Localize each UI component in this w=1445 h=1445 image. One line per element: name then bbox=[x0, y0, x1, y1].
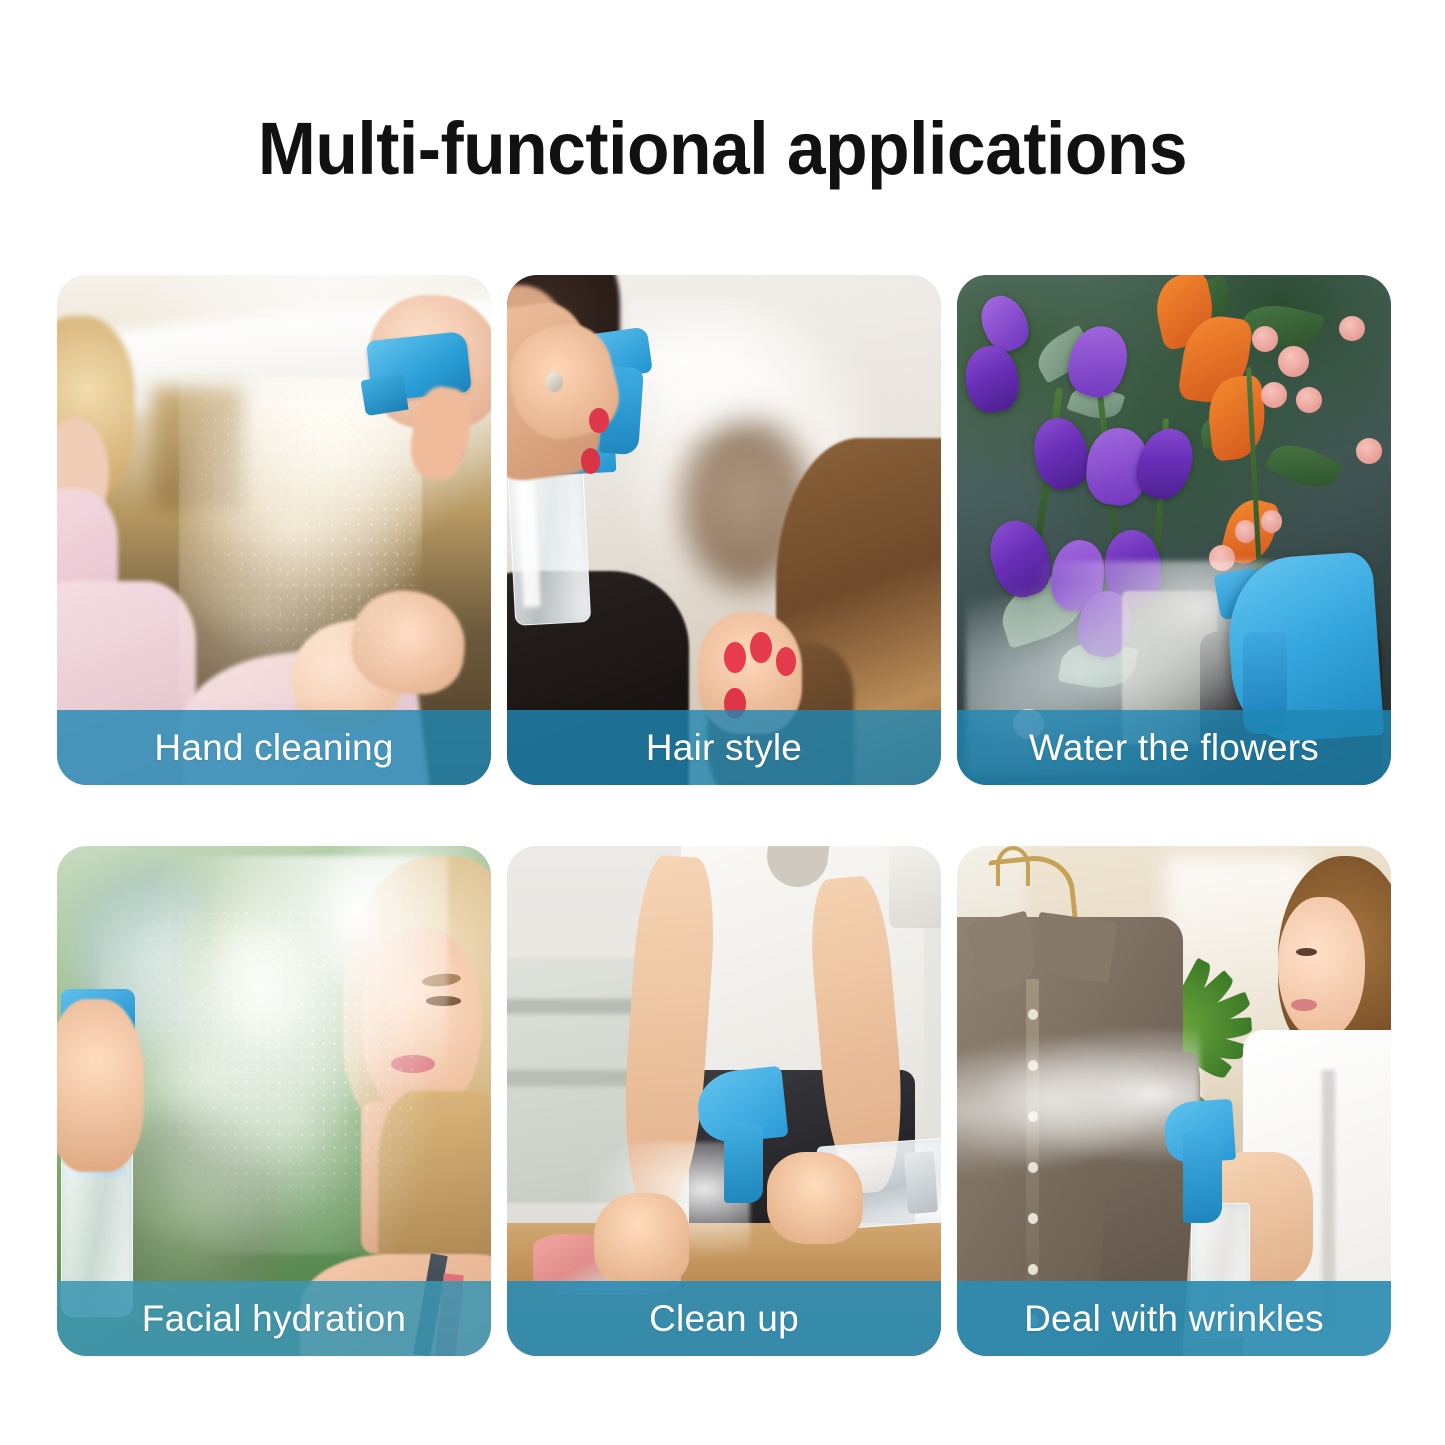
caption-hair-style: Hair style bbox=[507, 710, 941, 785]
photo-water-the-flowers bbox=[957, 275, 1391, 785]
card-hand-cleaning[interactable]: Hand cleaning bbox=[57, 275, 491, 785]
photo-clean-up bbox=[507, 846, 941, 1356]
photo-facial-hydration bbox=[57, 846, 491, 1356]
caption-facial-hydration: Facial hydration bbox=[57, 1281, 491, 1356]
card-water-the-flowers[interactable]: Water the flowers bbox=[957, 275, 1391, 785]
caption-hand-cleaning: Hand cleaning bbox=[57, 710, 491, 785]
application-card-grid: Hand cleaning bbox=[57, 275, 1390, 1356]
caption-deal-with-wrinkles: Deal with wrinkles bbox=[957, 1281, 1391, 1356]
card-hair-style[interactable]: Hair style bbox=[507, 275, 941, 785]
photo-deal-with-wrinkles bbox=[957, 846, 1391, 1356]
card-facial-hydration[interactable]: Facial hydration bbox=[57, 846, 491, 1356]
photo-hair-style bbox=[507, 275, 941, 785]
caption-clean-up: Clean up bbox=[507, 1281, 941, 1356]
caption-water-the-flowers: Water the flowers bbox=[957, 710, 1391, 785]
card-deal-with-wrinkles[interactable]: Deal with wrinkles bbox=[957, 846, 1391, 1356]
page-title: Multi-functional applications bbox=[43, 104, 1401, 194]
photo-hand-cleaning bbox=[57, 275, 491, 785]
infographic-page: Multi-functional applications bbox=[0, 0, 1445, 1445]
card-clean-up[interactable]: Clean up bbox=[507, 846, 941, 1356]
